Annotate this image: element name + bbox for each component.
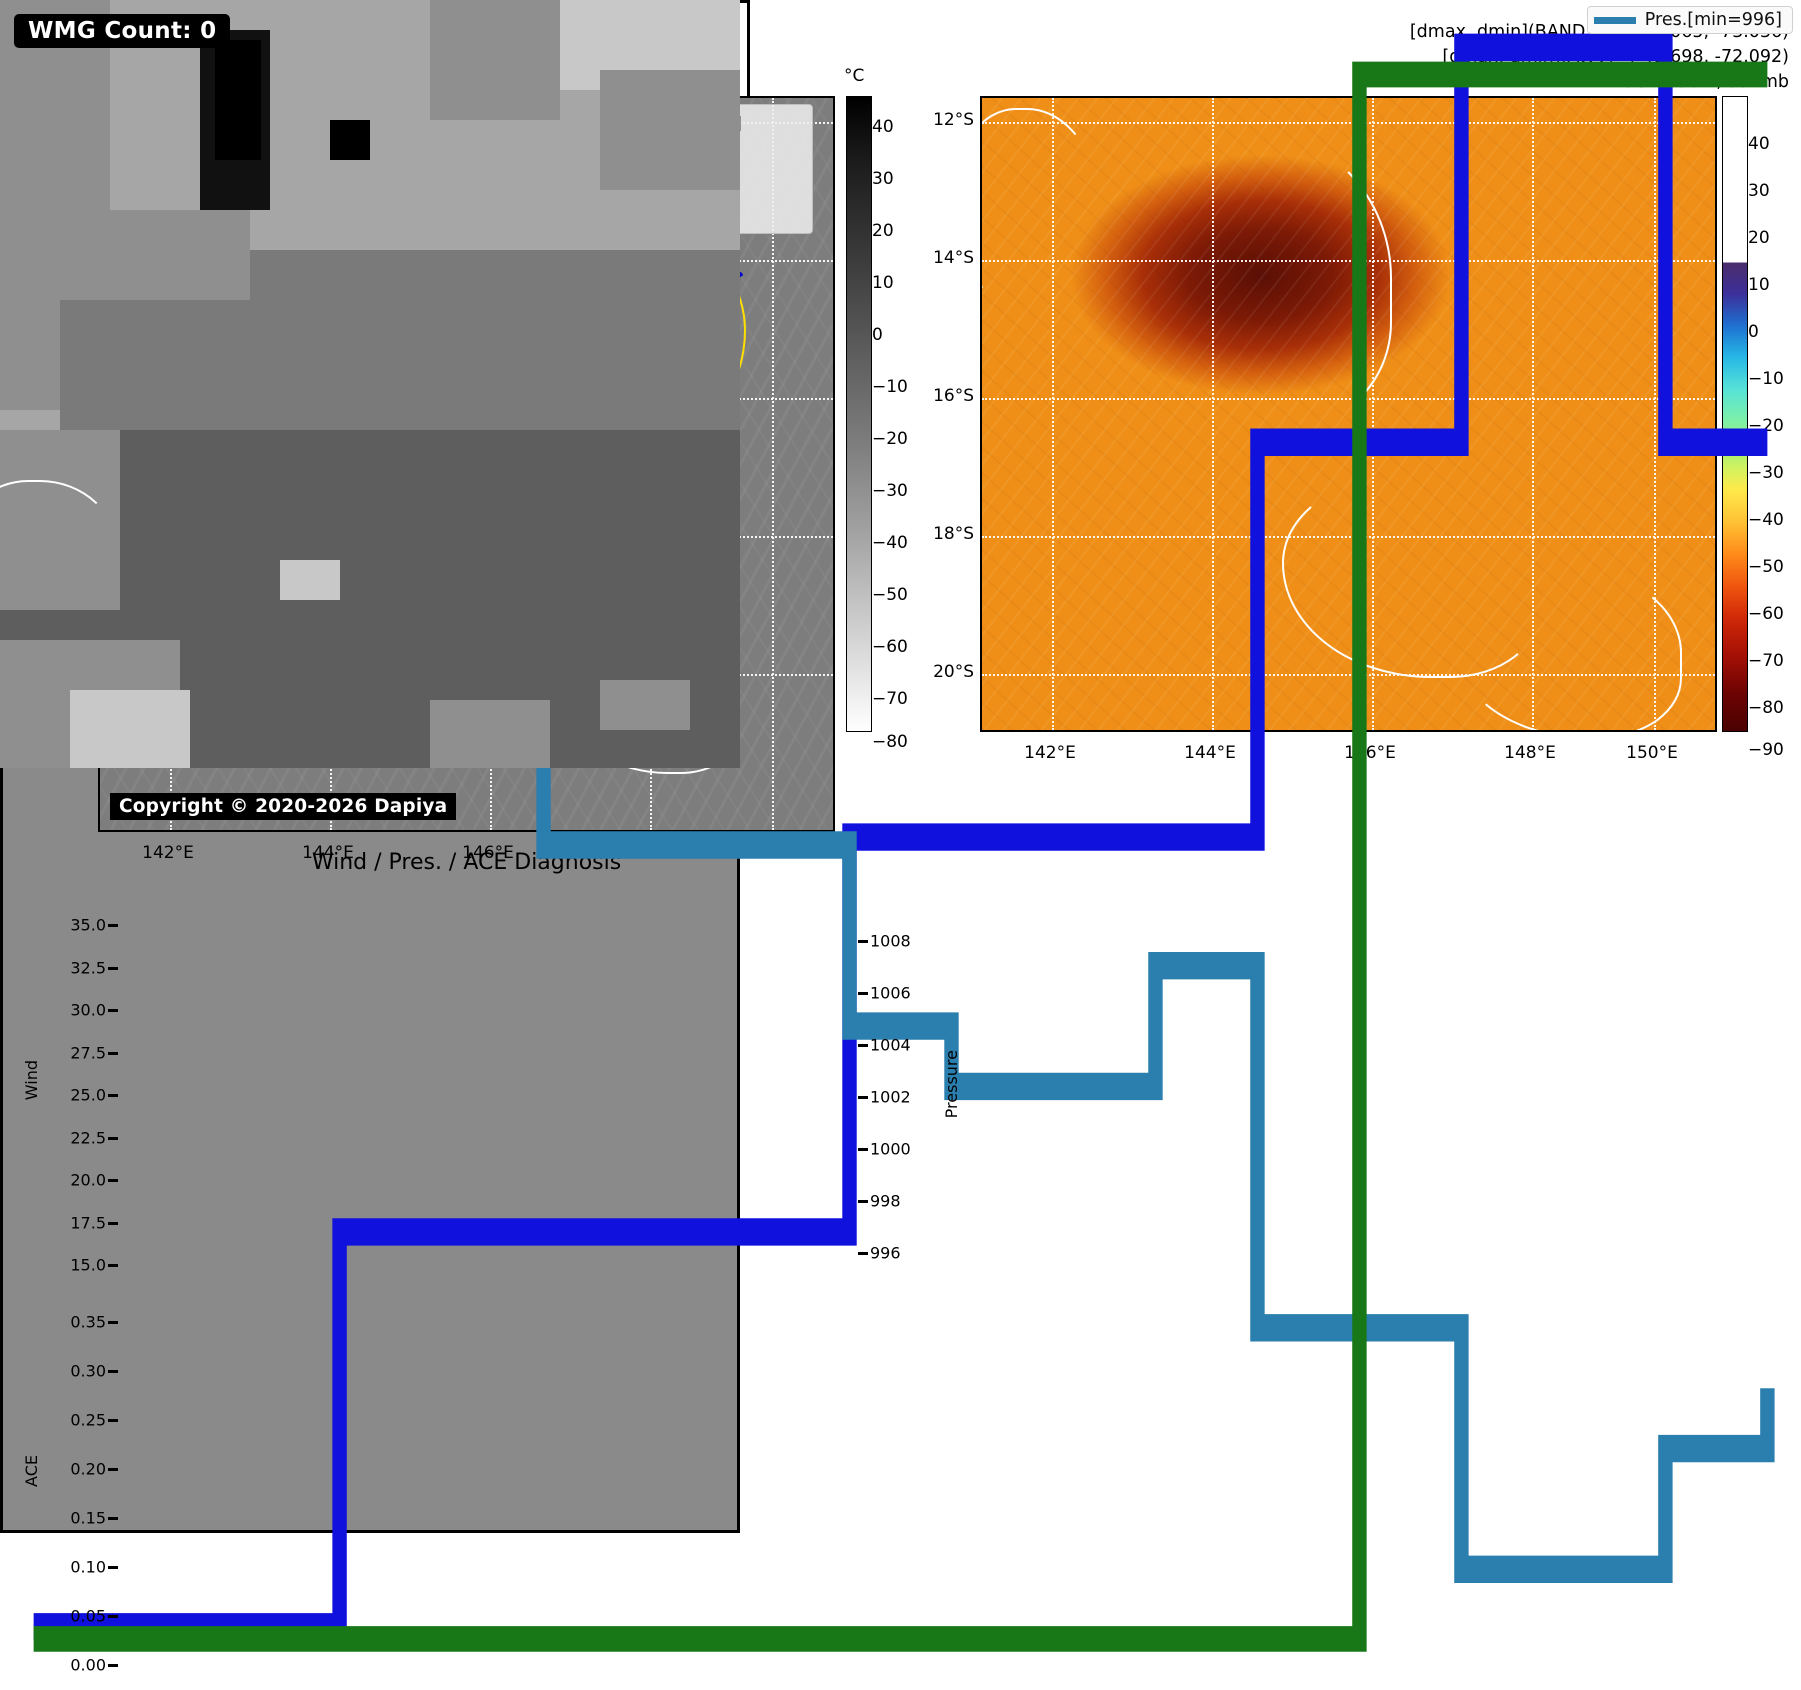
wmg-region bbox=[430, 765, 550, 768]
ace-axis-title: ACE bbox=[22, 1455, 41, 1487]
wmg-region bbox=[70, 765, 190, 768]
